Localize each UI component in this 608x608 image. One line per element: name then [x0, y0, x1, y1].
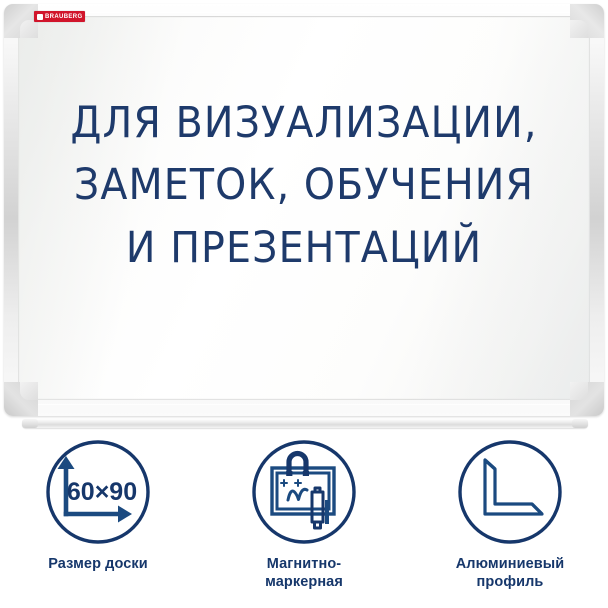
- feature-list: 60×90 Размер доски: [0, 438, 608, 591]
- corner-inner-shape: [570, 382, 588, 400]
- page-headline: ДЛЯ ВИЗУАЛИЗАЦИИ, ЗАМЕТОК, ОБУЧЕНИЯ И ПР…: [28, 92, 580, 279]
- frame-highlight-top: [14, 12, 594, 13]
- headline-line-1: ДЛЯ ВИЗУАЛИЗАЦИИ,: [28, 92, 580, 154]
- magnetic-whiteboard-marker-icon: [250, 438, 358, 546]
- frame-corner-bottom-left: [4, 382, 38, 416]
- dimension-value-text: 60×90: [67, 478, 137, 506]
- corner-inner-shape: [570, 20, 588, 38]
- feature-board-size: 60×90 Размер доски: [13, 438, 183, 591]
- feature-label-board-size: Размер доски: [48, 556, 148, 574]
- marker-tray: [22, 419, 588, 428]
- corner-inner-shape: [20, 20, 38, 38]
- feature-label-aluminium-profile: Алюминиевый профиль: [456, 556, 565, 591]
- frame-corner-top-left: [4, 4, 38, 38]
- product-feature-banner: BRAUBERG ДЛЯ ВИЗУАЛИЗАЦИИ, ЗАМЕТОК, ОБУЧ…: [0, 0, 608, 608]
- frame-corner-top-right: [570, 4, 604, 38]
- headline-line-2: ЗАМЕТОК, ОБУЧЕНИЯ: [28, 154, 580, 216]
- brauberg-logo-mark-icon: [37, 14, 43, 20]
- brauberg-logo-text: BRAUBERG: [45, 14, 82, 20]
- headline-line-3: И ПРЕЗЕНТАЦИЙ: [28, 217, 580, 279]
- marker-tray-cap-left: [22, 419, 38, 428]
- feature-aluminium-profile: Алюминиевый профиль: [425, 438, 595, 591]
- dimension-arrows-icon: 60×90: [44, 438, 152, 546]
- frame-corner-bottom-right: [570, 382, 604, 416]
- feature-magnetic-marker: Магнитно- маркерная: [219, 438, 389, 591]
- brauberg-logo: BRAUBERG: [34, 11, 85, 22]
- whiteboard: BRAUBERG ДЛЯ ВИЗУАЛИЗАЦИИ, ЗАМЕТОК, ОБУЧ…: [4, 4, 604, 416]
- frame-highlight-bottom: [14, 404, 594, 405]
- aluminium-profile-icon: [456, 438, 564, 546]
- feature-label-magnetic-marker: Магнитно- маркерная: [265, 556, 343, 591]
- corner-inner-shape: [20, 382, 38, 400]
- marker-tray-cap-right: [572, 419, 588, 428]
